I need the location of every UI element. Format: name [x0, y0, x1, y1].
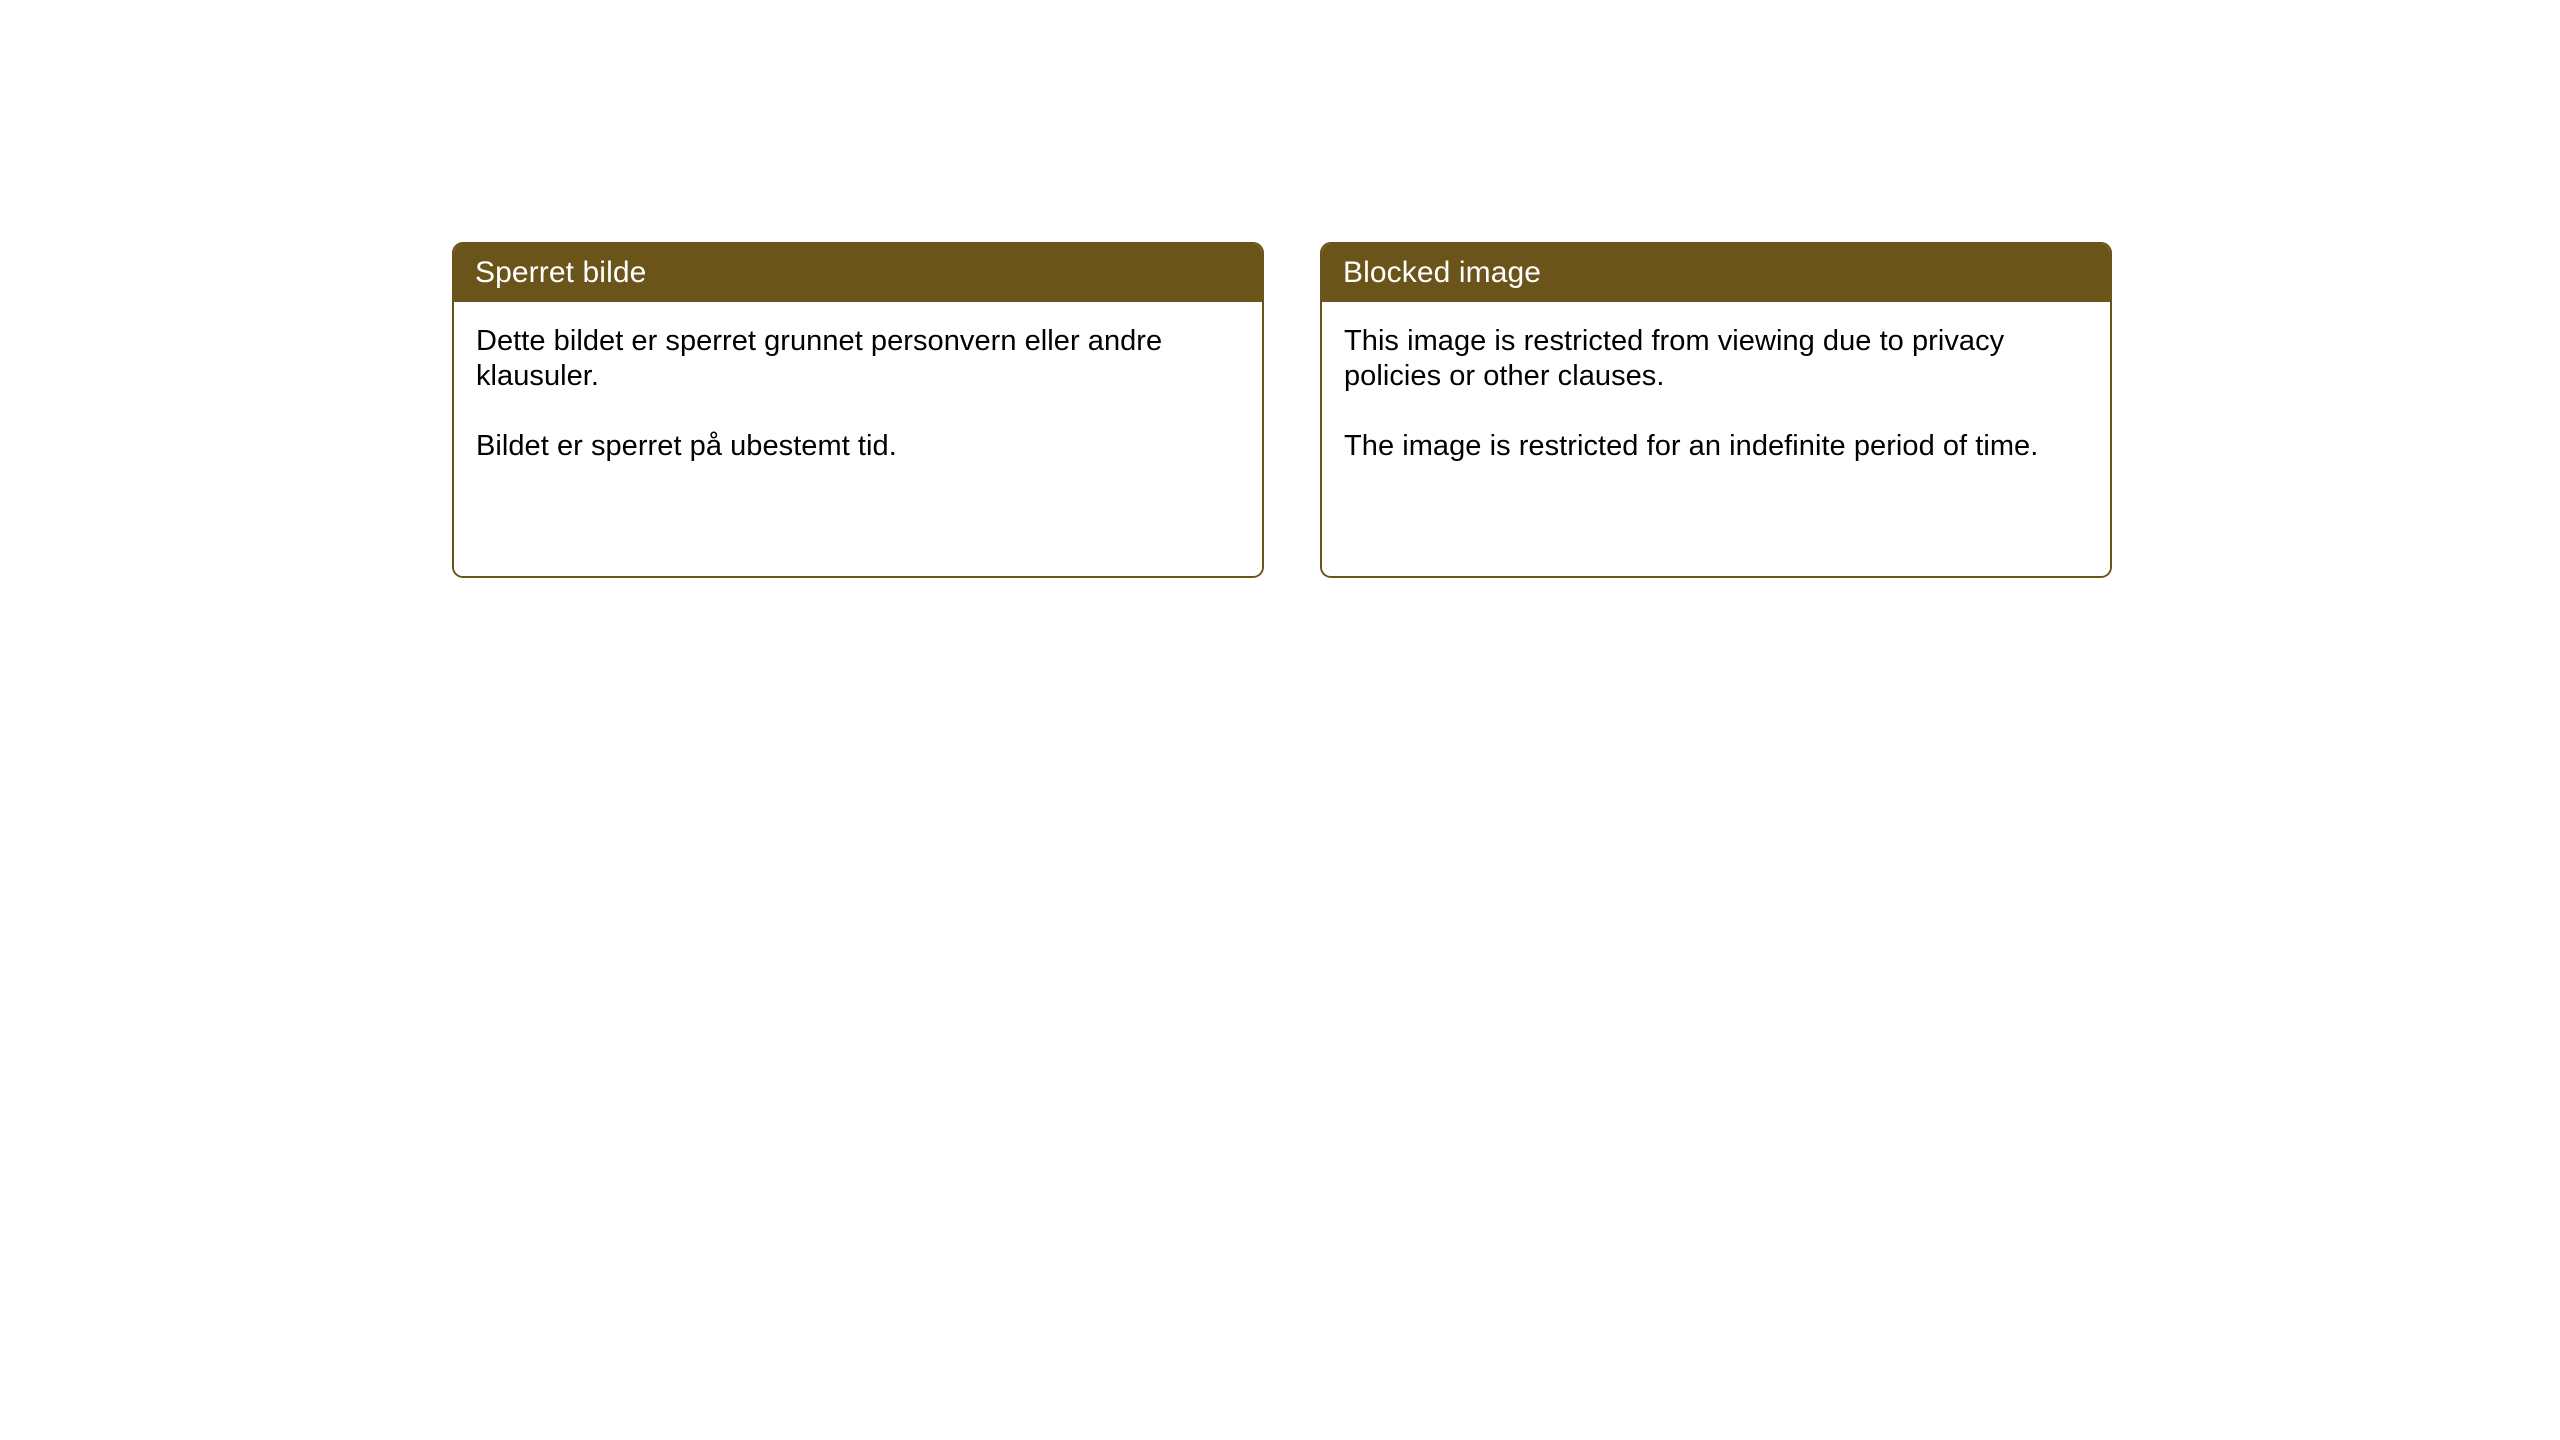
card-paragraph-reason-english: This image is restricted from viewing du… [1344, 324, 2084, 394]
card-paragraph-duration-english: The image is restricted for an indefinit… [1344, 429, 2084, 464]
blocked-image-notice-area: Sperret bilde Dette bildet er sperret gr… [452, 242, 2112, 578]
blocked-image-card-english: Blocked image This image is restricted f… [1320, 242, 2112, 578]
card-title-norwegian: Sperret bilde [475, 257, 646, 289]
card-body-norwegian: Dette bildet er sperret grunnet personve… [454, 302, 1262, 576]
card-header-english: Blocked image [1321, 243, 2111, 302]
blocked-image-card-norwegian: Sperret bilde Dette bildet er sperret gr… [452, 242, 1264, 578]
card-body-english: This image is restricted from viewing du… [1322, 302, 2110, 576]
card-title-english: Blocked image [1343, 257, 1541, 289]
card-header-norwegian: Sperret bilde [453, 243, 1263, 302]
card-paragraph-reason-norwegian: Dette bildet er sperret grunnet personve… [476, 324, 1236, 394]
card-paragraph-duration-norwegian: Bildet er sperret på ubestemt tid. [476, 429, 1236, 464]
